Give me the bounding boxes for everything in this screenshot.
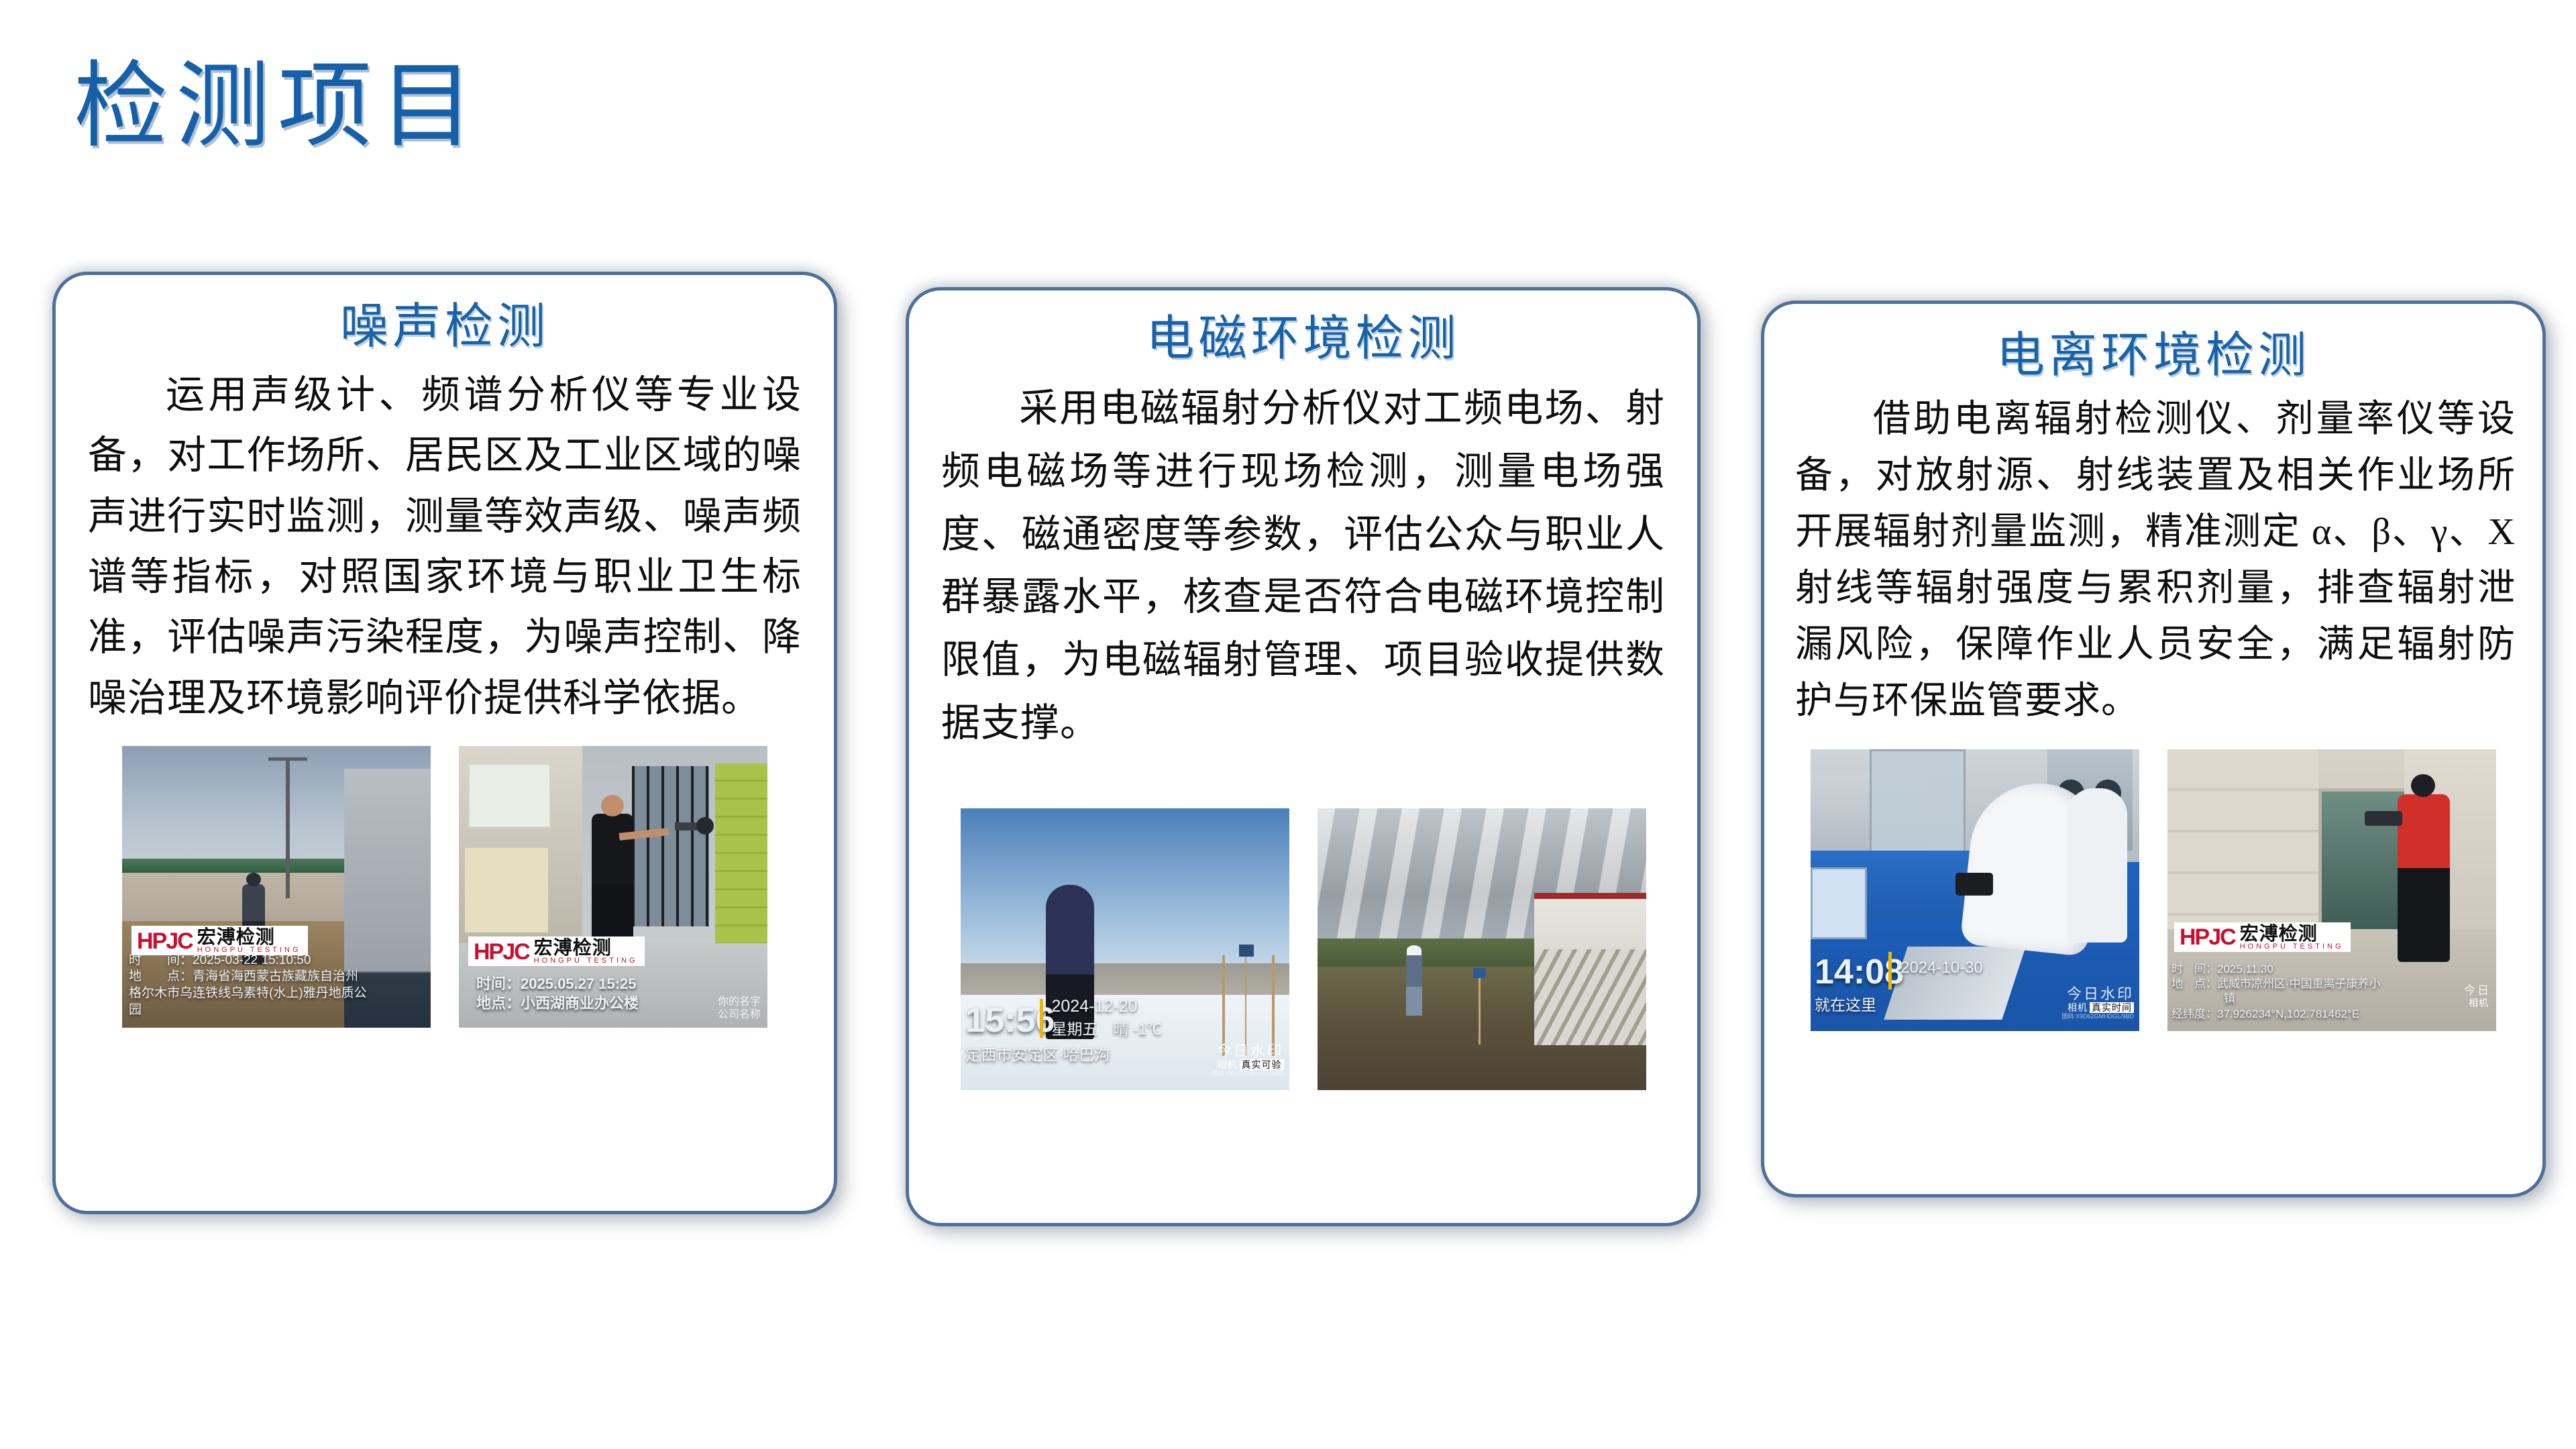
hpjc-logo-mark: HPJC [2180, 926, 2235, 949]
hpjc-brand-en: HONGPU TESTING [197, 947, 301, 954]
stamp-time-row: 时间：2025.05.27 15:25 [476, 975, 639, 994]
wall-poster-top [468, 763, 551, 828]
detection-items-card-row: 噪声检测 运用声级计、频谱分析仪等专业设备，对工作场所、居民区及工业区域的噪声进… [0, 0, 2576, 1449]
stamp-place-row: 地 点：武威市凉州区·中国重离子康养小 [2171, 977, 2381, 991]
stone-facade-left [2167, 749, 2318, 935]
card-title-electromagnetic: 电磁环境检测 [909, 314, 1697, 365]
corner-note-line2: 公司名称 [718, 1008, 761, 1021]
green-parcel-locker [715, 763, 767, 949]
card-body-noise: 运用声级计、频谱分析仪等专业设备，对工作场所、居民区及工业区域的噪声进行实时监测… [88, 365, 802, 729]
radiation-meter-icon [2365, 811, 2402, 826]
card-body-ionizing: 借助电离辐射检测仪、剂量率仪等设备，对放射源、射线装置及相关作业场所开展辐射剂量… [1795, 391, 2516, 729]
watermark-app-code: 图码 X9D62GMHDGL/9BD [2061, 1013, 2134, 1020]
stamp-place-row-continued: 镇 [2171, 991, 2381, 1006]
stamp-place-label: 地 点： [129, 969, 193, 983]
photo-row-electromagnetic: 15:56 2024-12-20 星期五 晴 -1℃ 定西市安定区·哈巴沟 今日… [909, 808, 1697, 1090]
stamp-place-label: 地 点： [2171, 977, 2217, 990]
stamp-time-value: 2025.11.30 [2217, 963, 2273, 975]
today-watermark-app: 今日水印 相机真实时间 图码 X9D62GMHDGL/9BD [2061, 985, 2134, 1020]
tripod-probe [1245, 955, 1246, 1056]
today-watermark-app: 今日 相机 [2464, 984, 2491, 1008]
photo-railway-field-emf-tripod[interactable] [1318, 808, 1646, 1090]
iron-gate [632, 766, 709, 926]
wall-poster-bottom [465, 848, 548, 932]
photo-row-ionizing: 14:08 2024-10-30 就在这里 今日水印 相机真实时间 图码 X9D… [1764, 749, 2542, 1031]
watermark-app-badge-row: 相机真实时间 [2061, 1002, 2134, 1013]
hpjc-brand-en: HONGPU TESTING [534, 957, 638, 965]
watermark-app-name: 今日 [2464, 984, 2491, 998]
stamp-place-label: 地点： [476, 995, 521, 1012]
photo-highway-noise-measurement[interactable]: HPJC 宏溥检测 HONGPU TESTING 时 间：2025-03-22 … [122, 746, 431, 1028]
watermark-app-badge-row: 相机真实可验 [1212, 1059, 1284, 1070]
watermark-app-prefix: 相机 [2467, 998, 2491, 1008]
second-technician-in-coverall [2067, 788, 2127, 943]
guardrail-layer [122, 859, 344, 873]
stamp-coord-row: 经纬度：37.926234°N,102.781462°E [2171, 1007, 2381, 1022]
watermark-app-badge: 真实可验 [1240, 1059, 1284, 1070]
photo-stamp-lines: 时 间：2025.11.30 地 点：武威市凉州区·中国重离子康养小 镇 经纬度… [2171, 962, 2381, 1021]
today-watermark-app: 今日水印 相机真实可验 图码 X9D62GMHDGL/9BD [1212, 1042, 1284, 1077]
watermark-app-badge: 真实时间 [2090, 1002, 2134, 1013]
tripod-probe [1479, 977, 1481, 1044]
hpjc-brand-text: 宏溥检测 HONGPU TESTING [197, 928, 301, 954]
photo-stamp-lines: 时间：2025.05.27 15:25 地点：小西湖商业办公楼 [476, 975, 639, 1013]
photo-building-entrance-radiation-meter[interactable]: HPJC 宏溥检测 HONGPU TESTING 时 间：2025.11.30 … [2167, 749, 2496, 1031]
stamp-place-value: 武威市凉州区·中国重离子康养小 [2217, 977, 2381, 990]
corner-note: 你的名字 公司名称 [718, 996, 761, 1021]
hpjc-watermark: HPJC 宏溥检测 HONGPU TESTING [468, 936, 645, 966]
watermark-app-code: 图码 X9D62GMHDGL/9BD [1212, 1070, 1284, 1077]
hpjc-brand-en: HONGPU TESTING [2240, 943, 2344, 951]
photo-date: 2024-10-30 [1900, 959, 1983, 977]
stamp-place-row: 地点：小西湖商业办公楼 [476, 994, 639, 1014]
hpjc-brand-cn: 宏溥检测 [534, 938, 638, 957]
card-body-electromagnetic: 采用电磁辐射分析仪对工频电场、射频电磁场等进行现场检测，测量电场强度、磁通密度等… [941, 377, 1665, 755]
hpjc-watermark: HPJC 宏溥检测 HONGPU TESTING [131, 926, 308, 955]
technician-figure [1406, 955, 1422, 1016]
photo-row-noise: HPJC 宏溥检测 HONGPU TESTING 时 间：2025-03-22 … [56, 746, 834, 1028]
stamp-time-label: 时间： [476, 975, 521, 992]
hpjc-logo-mark: HPJC [474, 941, 529, 963]
technician-figure-red-jacket [2398, 794, 2450, 962]
glass-partition [1870, 749, 1966, 866]
card-ionizing-environment-detection: 电离环境检测 借助电离辐射检测仪、剂量率仪等设备，对放射源、射线装置及相关作业场… [1761, 301, 2546, 1197]
hpjc-brand-cn: 宏溥检测 [197, 928, 301, 947]
photo-cleanroom-dose-rate-survey[interactable]: 14:08 2024-10-30 就在这里 今日水印 相机真实时间 图码 X9D… [1811, 749, 2139, 1031]
watermark-app-badge-row: 相机 [2464, 998, 2491, 1008]
hpjc-brand-cn: 宏溥检测 [2240, 924, 2344, 943]
photo-date: 2024-12-20 [1052, 997, 1138, 1016]
photo-stamp-lines: 时 间：2025-03-22 15:10:50 地 点：青海省海西蒙古族藏族自治… [129, 953, 370, 1019]
watermark-app-prefix: 相机 [1216, 1059, 1240, 1070]
card-noise-detection: 噪声检测 运用声级计、频谱分析仪等专业设备，对工作场所、居民区及工业区域的噪声进… [52, 272, 837, 1214]
clock-divider [1040, 999, 1043, 1038]
corner-note-line1: 你的名字 [718, 996, 761, 1008]
photo-location: 就在这里 [1815, 992, 1876, 1015]
stamp-time-row: 时 间：2025.11.30 [2171, 962, 2381, 977]
card-electromagnetic-environment-detection: 电磁环境检测 采用电磁辐射分析仪对工频电场、射频电磁场等进行现场检测，测量电场强… [906, 287, 1701, 1226]
stamp-coord-value: 37.926234°N,102.781462°E [2217, 1008, 2359, 1020]
dose-rate-meter-icon [1955, 873, 1993, 896]
stamp-place-row: 地 点：青海省海西蒙古族藏族自治州格尔木市乌连铁线乌素特(水上)雅丹地质公园 [129, 969, 370, 1018]
watermark-app-name: 今日水印 [2061, 985, 2134, 1002]
photo-location: 定西市安定区·哈巴沟 [966, 1042, 1110, 1065]
card-title-ionizing: 电离环境检测 [1764, 331, 2542, 382]
hpjc-brand-text: 宏溥检测 HONGPU TESTING [534, 938, 638, 965]
hpjc-brand-text: 宏溥检测 HONGPU TESTING [2240, 924, 2344, 951]
card-title-noise: 噪声检测 [56, 302, 834, 353]
revetment-slope [1534, 949, 1646, 1045]
stamp-coord-label: 经纬度： [2171, 1008, 2217, 1020]
utility-pole-icon [286, 757, 290, 898]
sound-level-meter-icon [675, 822, 703, 830]
watermark-app-name: 今日水印 [1212, 1042, 1284, 1059]
photo-weather: 星期五 晴 -1℃ [1052, 1016, 1163, 1039]
watermark-app-prefix: 相机 [2065, 1002, 2090, 1013]
stamp-time-value: 2025.05.27 15:25 [521, 975, 637, 992]
clock-divider [1888, 952, 1892, 989]
photo-street-sound-level-meter[interactable]: HPJC 宏溥检测 HONGPU TESTING 时间：2025.05.27 1… [459, 746, 767, 1028]
stamp-time-label: 时 间： [2171, 963, 2217, 975]
stamp-place-value: 小西湖商业办公楼 [521, 995, 639, 1012]
hpjc-logo-mark: HPJC [137, 930, 193, 953]
metal-ramp [1884, 947, 2027, 1020]
hpjc-watermark: HPJC 宏溥检测 HONGPU TESTING [2174, 922, 2351, 952]
pass-through-oven [1811, 867, 1867, 939]
photo-snow-hill-emf-probe[interactable]: 15:56 2024-12-20 星期五 晴 -1℃ 定西市安定区·哈巴沟 今日… [961, 808, 1289, 1090]
